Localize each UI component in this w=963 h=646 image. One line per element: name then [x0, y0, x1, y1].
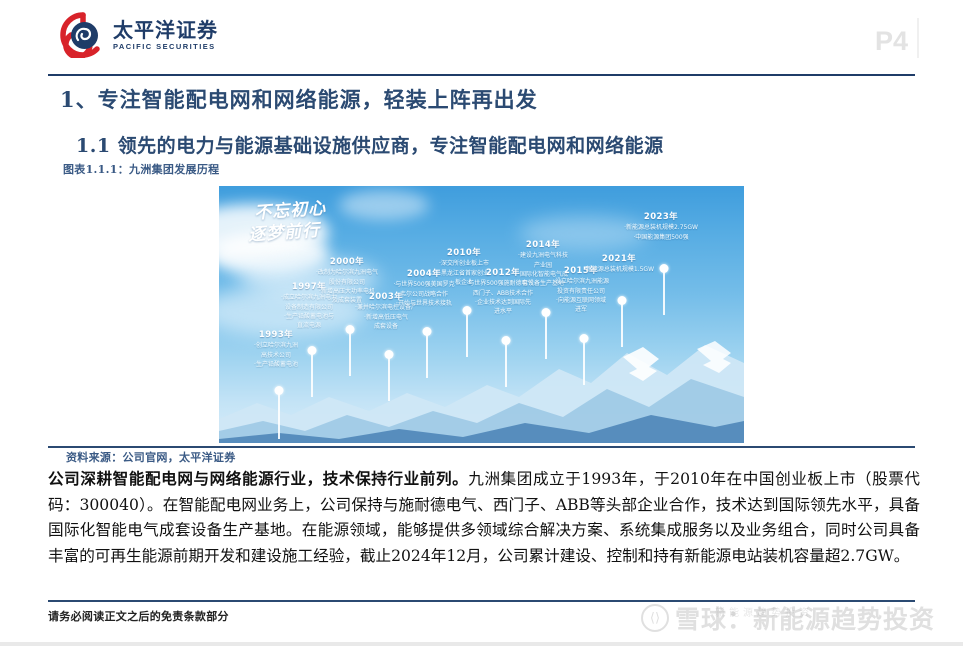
- timeline-desc-line: ·新能源总装机规模2.75GW: [597, 223, 725, 232]
- timeline-year: 2023年: [597, 212, 725, 223]
- figure-caption: 图表1.1.1：九洲集团发展历程: [63, 161, 219, 177]
- timeline-stem: [505, 343, 507, 387]
- header-right-divider: [917, 18, 919, 58]
- calligraphy-line-2: 逐梦前行: [247, 216, 321, 246]
- timeline-desc-line: ·设立哈尔滨九洲能源: [529, 277, 633, 286]
- company-logo: 太平洋证券 PACIFIC SECURITIES: [60, 12, 218, 58]
- timeline-stem: [663, 271, 665, 315]
- bottom-edge: [0, 642, 963, 646]
- timeline-stem: [466, 313, 468, 357]
- timeline-year: 1993年: [230, 330, 322, 341]
- timeline-stem: [388, 357, 390, 401]
- pacific-securities-logo-icon: [60, 12, 106, 58]
- timeline-stem: [545, 315, 547, 359]
- timeline-stem: [311, 353, 313, 397]
- logo-english-name: PACIFIC SECURITIES: [113, 43, 218, 51]
- timeline-desc-line: 进军: [529, 305, 633, 314]
- timeline-stem: [621, 303, 623, 347]
- source-divider: [48, 446, 915, 448]
- logo-text-block: 太平洋证券 PACIFIC SECURITIES: [113, 20, 218, 51]
- timeline-desc-line: 成套设备: [336, 322, 436, 331]
- timeline-stem: [278, 393, 280, 439]
- slide-header: 太平洋证券 PACIFIC SECURITIES P4: [0, 0, 963, 74]
- footer-divider: [48, 600, 915, 602]
- timeline-desc-line: 投资有限责任公司: [529, 287, 633, 296]
- source-line: 资料来源：公司官网，太平洋证券: [66, 449, 236, 465]
- timeline-label: 2023年·新能源总装机规模2.75GW·中国能源集团500强: [597, 212, 725, 242]
- watermark: ⟨⟩ 雪球：新能源趋势投资: [641, 600, 935, 636]
- timeline-desc-line: ·中国能源集团500强: [597, 233, 725, 242]
- timeline-stem: [583, 341, 585, 385]
- slide-page: 太平洋证券 PACIFIC SECURITIES P4 1、专注智能配电网和网络…: [0, 0, 963, 646]
- body-lead-sentence: 公司深耕智能配电网与网络能源行业，技术保持行业前列。: [48, 469, 468, 488]
- body-paragraph: 公司深耕智能配电网与网络能源行业，技术保持行业前列。九洲集团成立于1993年，于…: [48, 466, 920, 570]
- timeline-year: 2014年: [491, 240, 595, 251]
- timeline-stem: [349, 332, 351, 376]
- watermark-secondary: 新能源趋势投资: [715, 604, 813, 619]
- watermark-text: 雪球：新能源趋势投资: [675, 600, 935, 636]
- subsection-title: 1.1 领先的电力与能源基础设施供应商，专注智能配电网和网络能源: [76, 131, 664, 158]
- xueqiu-logo-icon: ⟨⟩: [641, 604, 669, 632]
- footer-disclaimer: 请务必阅读正文之后的免责条款部分: [48, 608, 229, 624]
- timeline-year: 2000年: [293, 257, 401, 268]
- calligraphy-slogan: 不忘初心 逐梦前行: [248, 196, 358, 248]
- header-divider: [48, 74, 915, 76]
- timeline-stem: [426, 334, 428, 378]
- section-title: 1、专注智能配电网和网络能源，轻装上阵再出发: [60, 84, 538, 114]
- timeline-desc-line: ·新增高低压电气: [336, 313, 436, 322]
- timeline-desc-line: ·生产铅酸蓄电池: [230, 360, 322, 369]
- company-timeline-figure: 不忘初心 逐梦前行 1993年·创立哈尔滨九洲高技术公司·生产铅酸蓄电池1997…: [219, 186, 744, 443]
- page-number: P4: [875, 26, 908, 57]
- logo-chinese-name: 太平洋证券: [113, 20, 218, 40]
